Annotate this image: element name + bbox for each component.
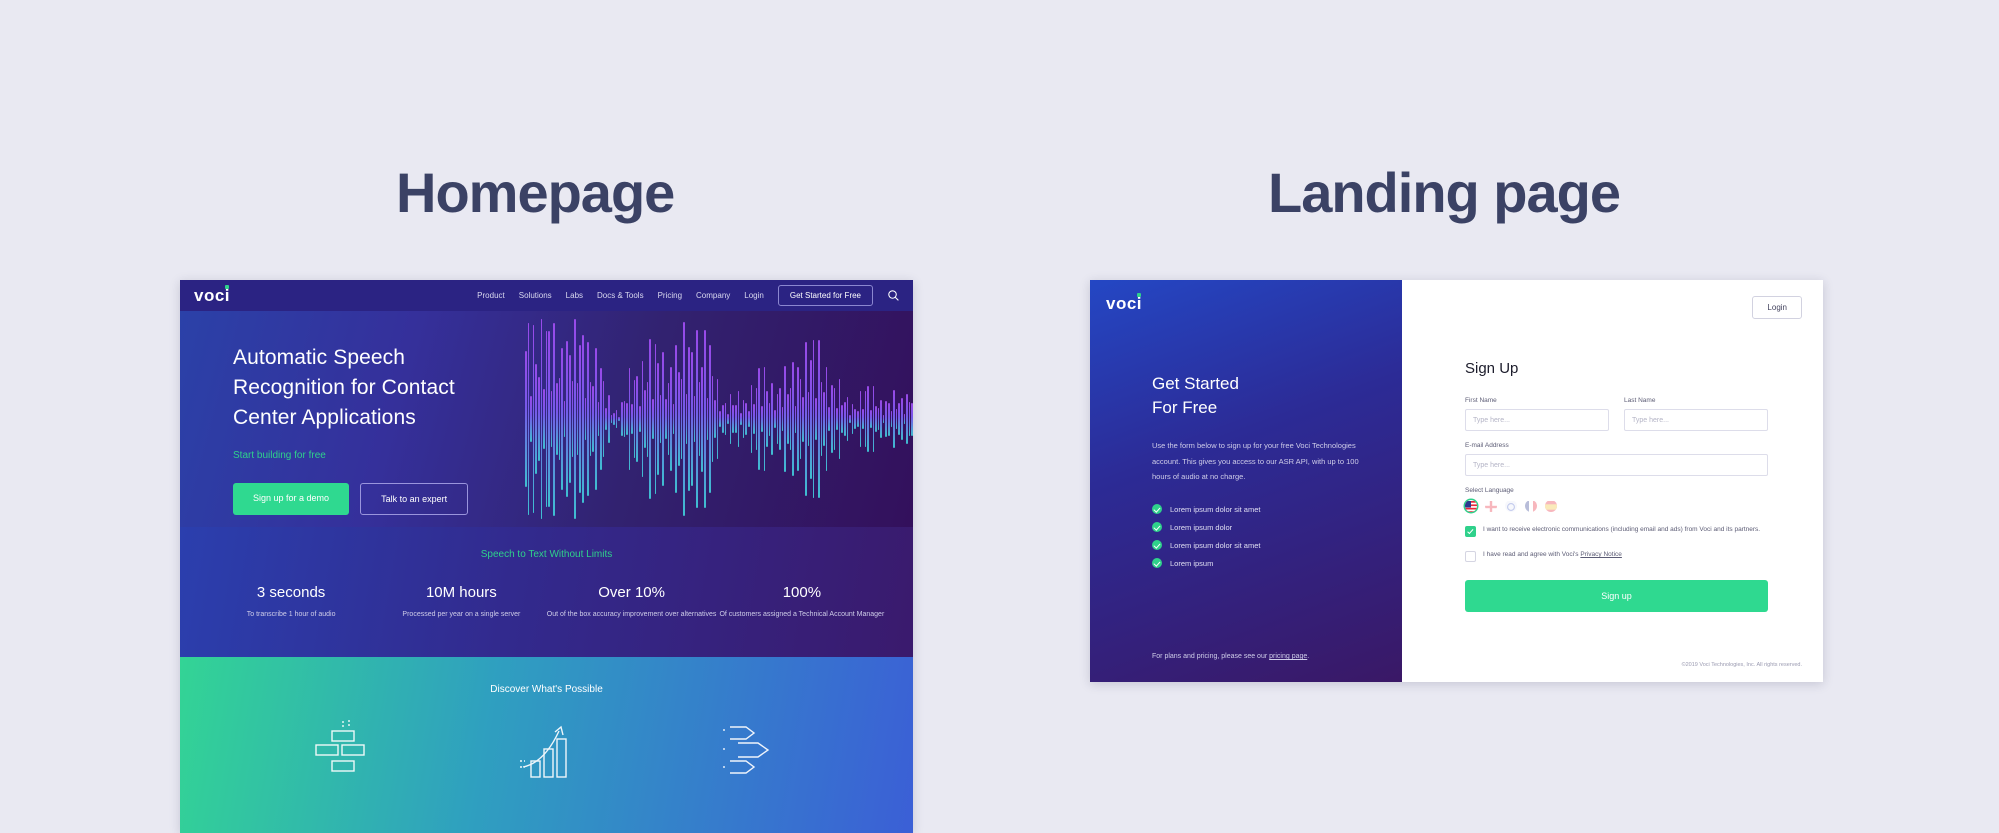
nav-item-company[interactable]: Company [696,291,730,300]
check-circle-icon [1152,522,1162,532]
list-item: Lorem ipsum [1152,558,1376,568]
bar-chart-growth-icon [517,717,577,779]
stat-label: Processed per year on a single server [376,610,546,621]
homepage-mockup: voci Product Solutions Labs Docs & Tools… [180,280,913,833]
landing-right-panel: Login Sign Up First Name Type here... La… [1402,280,1823,682]
hero-heading-line-2: Recognition for Contact [233,376,455,399]
marketing-consent-checkbox[interactable] [1465,526,1476,537]
stat-item: 3 seconds To transcribe 1 hour of audio [206,584,376,621]
nav-item-pricing[interactable]: Pricing [658,291,682,300]
pricing-footnote: For plans and pricing, please see our pr… [1152,653,1309,660]
stats-title: Speech to Text Without Limits [180,527,913,560]
check-circle-icon [1152,558,1162,568]
page-title-landing: Landing page [1268,160,1620,225]
language-label: Select Language [1465,487,1768,494]
landing-heading: Get Started For Free [1152,372,1376,420]
landing-left-content: Get Started For Free Use the form below … [1152,372,1376,576]
email-input[interactable]: Type here... [1465,454,1768,476]
landing-heading-line-2: For Free [1152,398,1217,417]
homepage-navbar: voci Product Solutions Labs Docs & Tools… [180,280,913,311]
first-name-label: First Name [1465,397,1609,404]
privacy-consent-text: I have read and agree with Voci's [1483,551,1580,558]
arrows-routing-icon [720,717,780,779]
talk-to-expert-button[interactable]: Talk to an expert [360,483,468,515]
first-name-group: First Name Type here... [1465,397,1609,431]
list-item: Lorem ipsum dolor sit amet [1152,504,1376,514]
discover-section: Discover What's Possible [180,657,913,833]
discover-icons [180,695,913,779]
landing-left-panel: voci Get Started For Free Use the form b… [1090,280,1402,682]
name-fields-row: First Name Type here... Last Name Type h… [1465,397,1768,431]
last-name-group: Last Name Type here... [1624,397,1768,431]
hero-heading-line-3: Center Applications [233,406,416,429]
nav-item-login[interactable]: Login [744,291,764,300]
landing-page-mockup: voci Get Started For Free Use the form b… [1090,280,1823,682]
privacy-consent-checkbox[interactable] [1465,551,1476,562]
privacy-consent-label: I have read and agree with Voci's Privac… [1483,550,1622,561]
page-title-homepage: Homepage [396,160,674,225]
flag-us-icon[interactable] [1465,500,1477,512]
stat-value: 100% [717,584,887,601]
get-started-free-button[interactable]: Get Started for Free [778,285,873,306]
flag-eu-icon[interactable] [1505,500,1517,512]
list-item-label: Lorem ipsum [1170,559,1213,568]
nav-item-product[interactable]: Product [477,291,505,300]
stat-item: 100% Of customers assigned a Technical A… [717,584,887,621]
last-name-label: Last Name [1624,397,1768,404]
stat-value: 3 seconds [206,584,376,601]
nav-item-docs-tools[interactable]: Docs & Tools [597,291,644,300]
check-circle-icon [1152,540,1162,550]
landing-paragraph: Use the form below to sign up for your f… [1152,438,1376,484]
check-circle-icon [1152,504,1162,514]
nav-item-solutions[interactable]: Solutions [519,291,552,300]
stat-label: To transcribe 1 hour of audio [206,610,376,621]
pricing-footnote-text: For plans and pricing, please see our [1152,653,1269,660]
search-icon[interactable] [887,289,900,302]
audio-waveform-graphic [523,311,913,527]
pricing-page-link[interactable]: pricing page [1269,653,1307,660]
email-group: E-mail Address Type here... [1465,442,1768,476]
list-item: Lorem ipsum dolor [1152,522,1376,532]
language-group: Select Language [1465,487,1768,512]
signup-form: Sign Up First Name Type here... Last Nam… [1465,360,1768,612]
marketing-consent-row: I want to receive electronic communicati… [1465,525,1768,537]
voci-logo[interactable]: voci [1106,294,1142,314]
hero-copy: Automatic Speech Recognition for Contact… [233,343,468,515]
hero-heading-line-1: Automatic Speech [233,346,405,369]
hero-buttons: Sign up for a demo Talk to an expert [233,483,468,515]
logo-dot-icon [225,285,229,289]
stat-value: 10M hours [376,584,546,601]
stat-label: Out of the box accuracy improvement over… [547,610,717,621]
hero-subtext: Start building for free [233,450,468,461]
landing-heading-line-1: Get Started [1152,374,1239,393]
marketing-consent-label: I want to receive electronic communicati… [1483,525,1760,536]
pricing-footnote-end: . [1307,653,1309,660]
discover-title: Discover What's Possible [180,657,913,695]
stat-label: Of customers assigned a Technical Accoun… [717,610,887,621]
signup-demo-button[interactable]: Sign up for a demo [233,483,349,515]
stats-row: 3 seconds To transcribe 1 hour of audio … [180,584,913,621]
voci-logo[interactable]: voci [194,286,230,306]
stat-item: Over 10% Out of the box accuracy improve… [547,584,717,621]
flag-spain-icon[interactable] [1545,500,1557,512]
stat-value: Over 10% [547,584,717,601]
language-flag-list [1465,500,1768,512]
privacy-consent-row: I have read and agree with Voci's Privac… [1465,550,1768,562]
hero-section: Automatic Speech Recognition for Contact… [180,311,913,527]
login-button[interactable]: Login [1752,296,1802,319]
list-item-label: Lorem ipsum dolor sit amet [1170,505,1260,514]
logo-dot-icon [1137,293,1141,297]
list-item-label: Lorem ipsum dolor [1170,523,1232,532]
hero-heading: Automatic Speech Recognition for Contact… [233,343,468,432]
signup-submit-button[interactable]: Sign up [1465,580,1768,612]
stats-section: Speech to Text Without Limits 3 seconds … [180,527,913,657]
stat-item: 10M hours Processed per year on a single… [376,584,546,621]
landing-bullet-list: Lorem ipsum dolor sit amet Lorem ipsum d… [1152,504,1376,568]
flag-uk-icon[interactable] [1485,500,1497,512]
list-item: Lorem ipsum dolor sit amet [1152,540,1376,550]
first-name-input[interactable]: Type here... [1465,409,1609,431]
nav-item-labs[interactable]: Labs [566,291,583,300]
flowchart-icon [314,717,374,779]
nav-links-group: Product Solutions Labs Docs & Tools Pric… [477,285,913,306]
copyright-text: ©2019 Voci Technologies, Inc. All rights… [1682,662,1802,668]
email-label: E-mail Address [1465,442,1768,449]
list-item-label: Lorem ipsum dolor sit amet [1170,541,1260,550]
flag-france-icon[interactable] [1525,500,1537,512]
signup-form-title: Sign Up [1465,360,1768,377]
privacy-notice-link[interactable]: Privacy Notice [1580,551,1622,558]
last-name-input[interactable]: Type here... [1624,409,1768,431]
